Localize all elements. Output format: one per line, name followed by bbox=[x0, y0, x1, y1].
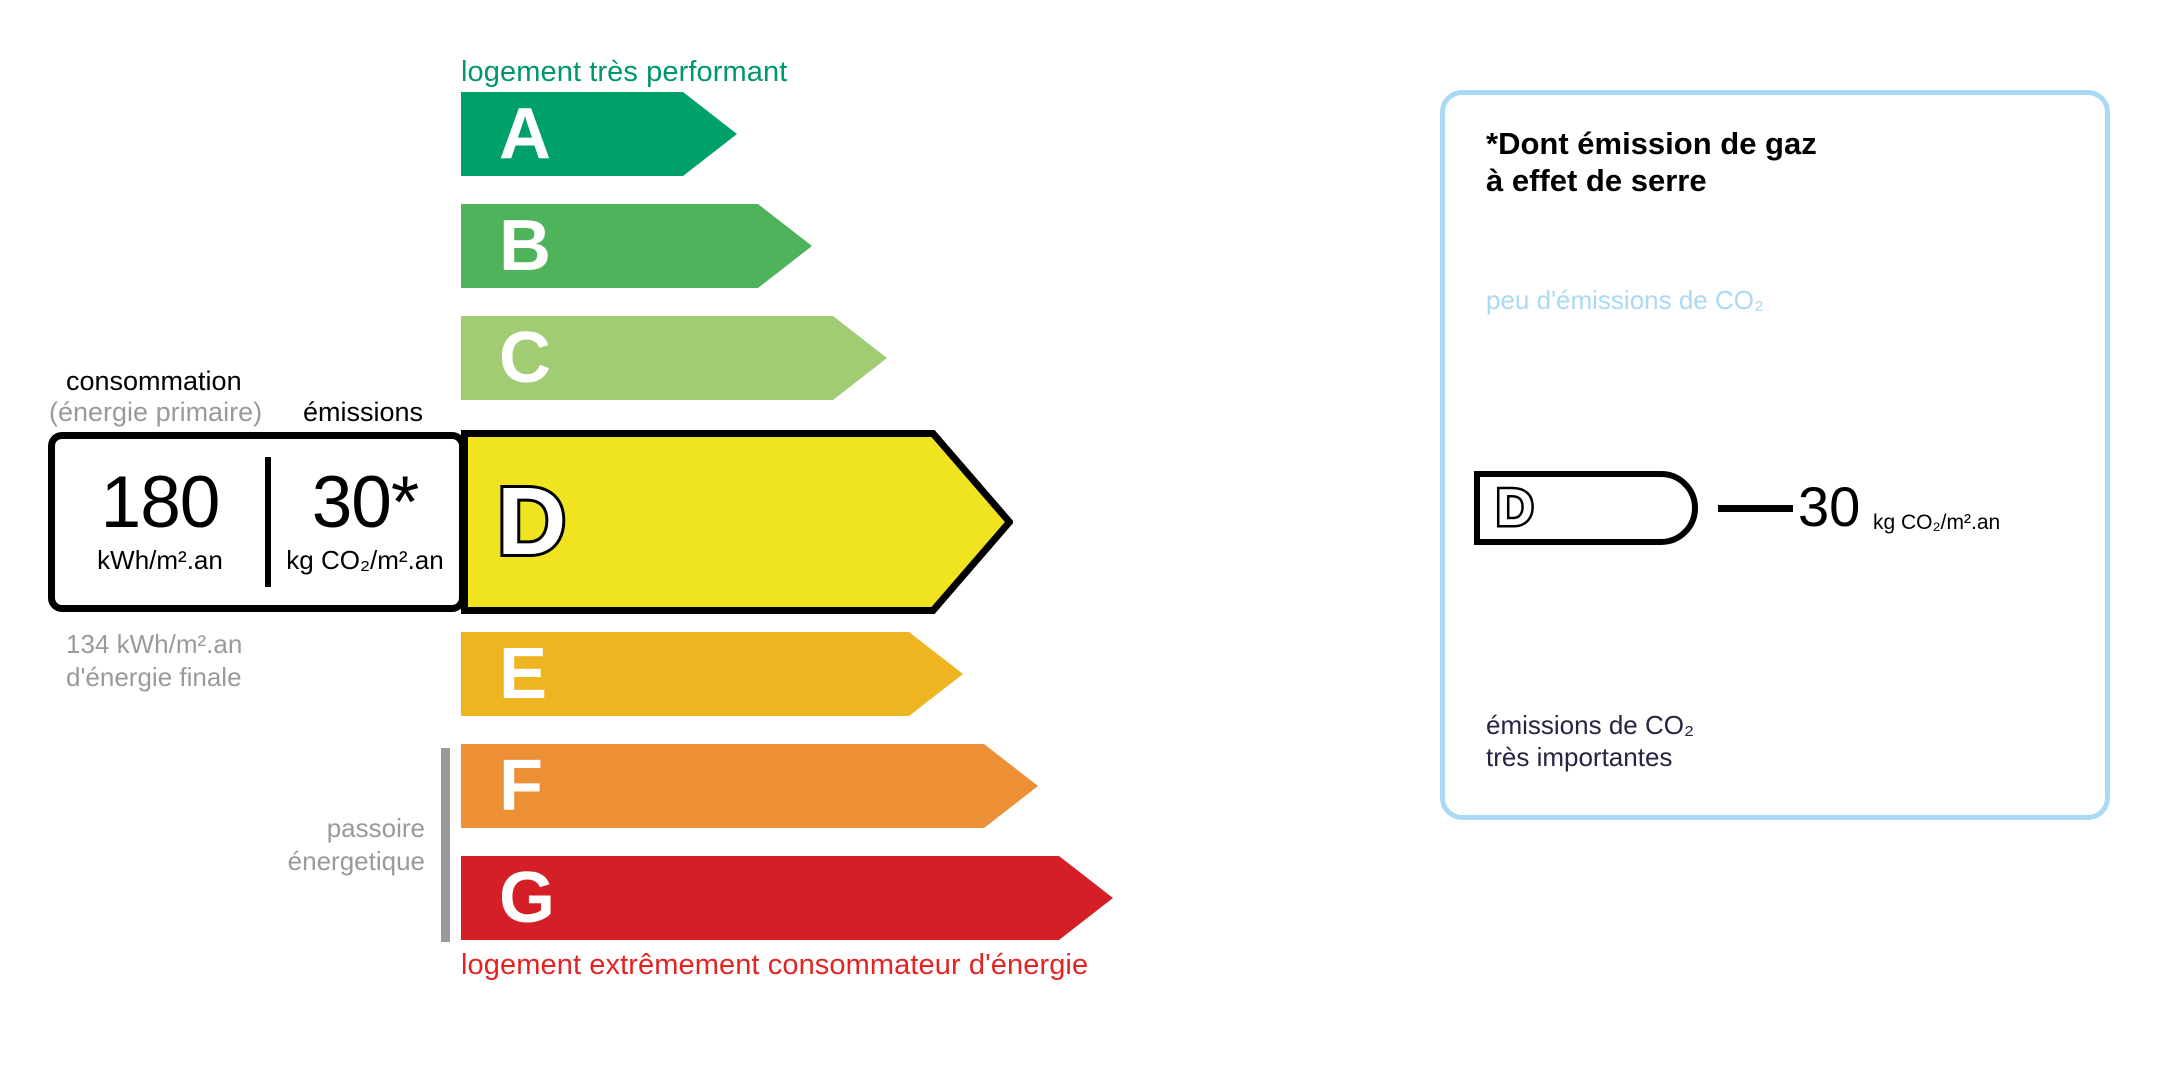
final-energy-note: 134 kWh/m².an d'énergie finale bbox=[66, 628, 242, 695]
co2-class-row-e: E bbox=[1480, 553, 1744, 599]
arrow-d: D bbox=[461, 430, 1013, 614]
consumption-value: 180 bbox=[101, 468, 220, 538]
energy-class-row-f: F bbox=[461, 744, 1038, 828]
energy-performance-diagram: logement très performant ABCDEFG consomm… bbox=[0, 0, 1400, 1079]
energy-class-letter-a: A bbox=[499, 98, 551, 170]
passoire-line-1: passoire bbox=[200, 812, 425, 845]
co2-class-letter-e: E bbox=[1494, 553, 1744, 599]
co2-class-row-d: D bbox=[1474, 471, 1698, 545]
energy-class-letter-d: D bbox=[497, 474, 566, 570]
co2-bottom-line-2: très importantes bbox=[1486, 742, 1694, 774]
consumption-label: consommation bbox=[66, 366, 242, 397]
co2-class-letter-f: F bbox=[1494, 609, 1780, 657]
co2-callout-line bbox=[1718, 505, 1793, 512]
energy-class-letter-f: F bbox=[499, 750, 543, 822]
arrow-f: F bbox=[461, 744, 1038, 828]
passoire-bracket bbox=[441, 748, 450, 942]
co2-class-letter-a: A bbox=[1494, 318, 1580, 358]
energy-bottom-caption: logement extrêmement consommateur d'éner… bbox=[461, 949, 1088, 982]
co2-class-letter-g: G bbox=[1494, 663, 1820, 713]
co2-class-row-a: A bbox=[1480, 318, 1580, 358]
arrow-shape-f bbox=[461, 744, 1038, 828]
co2-bottom-caption: émissions de CO₂ très importantes bbox=[1486, 710, 1694, 773]
energy-class-letter-b: B bbox=[499, 210, 551, 282]
co2-class-row-f: F bbox=[1480, 609, 1780, 657]
passoire-label: passoire énergetique bbox=[200, 812, 425, 879]
co2-callout-value: 30 bbox=[1798, 479, 1860, 535]
emissions-label: émissions bbox=[303, 397, 423, 428]
co2-callout-unit: kg CO₂/m².an bbox=[1873, 512, 2000, 533]
energy-class-row-a: A bbox=[461, 92, 737, 176]
energy-class-letter-c: C bbox=[499, 322, 551, 394]
co2-bottom-line-1: émissions de CO₂ bbox=[1486, 710, 1694, 742]
emission-unit: kg CO₂/m².an bbox=[286, 545, 443, 576]
value-box: 180 kWh/m².an 30* kg CO₂/m².an bbox=[48, 432, 466, 612]
arrow-g: G bbox=[461, 856, 1113, 940]
emission-value-cell: 30* kg CO₂/m².an bbox=[271, 439, 459, 605]
emission-value: 30* bbox=[312, 468, 419, 538]
co2-class-row-c: C bbox=[1480, 418, 1647, 462]
energy-class-letter-g: G bbox=[499, 862, 555, 934]
co2-class-letter-c: C bbox=[1494, 418, 1647, 462]
final-energy-text: d'énergie finale bbox=[66, 661, 242, 694]
consumption-unit: kWh/m².an bbox=[97, 545, 223, 576]
primary-energy-label: (énergie primaire) bbox=[49, 397, 262, 428]
arrow-e: E bbox=[461, 632, 963, 716]
co2-class-scale: ABCD30kg CO₂/m².anEFG bbox=[1445, 95, 2105, 815]
final-energy-value: 134 kWh/m².an bbox=[66, 628, 242, 661]
consumption-value-cell: 180 kWh/m².an bbox=[55, 439, 265, 605]
arrow-c: C bbox=[461, 316, 887, 400]
energy-class-row-e: E bbox=[461, 632, 963, 716]
co2-class-row-b: B bbox=[1480, 367, 1616, 409]
energy-class-row-b: B bbox=[461, 204, 812, 288]
co2-class-letter-d: D bbox=[1496, 477, 1692, 539]
passoire-line-2: énergetique bbox=[200, 845, 425, 878]
energy-class-row-c: C bbox=[461, 316, 887, 400]
energy-class-letter-e: E bbox=[499, 638, 547, 710]
energy-class-row-d: D bbox=[461, 430, 1013, 614]
arrow-b: B bbox=[461, 204, 812, 288]
arrow-a: A bbox=[461, 92, 737, 176]
co2-emissions-panel: *Dont émission de gaz à effet de serre p… bbox=[1440, 90, 2110, 820]
co2-class-row-g: G bbox=[1480, 663, 1820, 713]
arrow-shape-g bbox=[461, 856, 1113, 940]
co2-class-letter-b: B bbox=[1494, 367, 1616, 409]
energy-class-row-g: G bbox=[461, 856, 1113, 940]
